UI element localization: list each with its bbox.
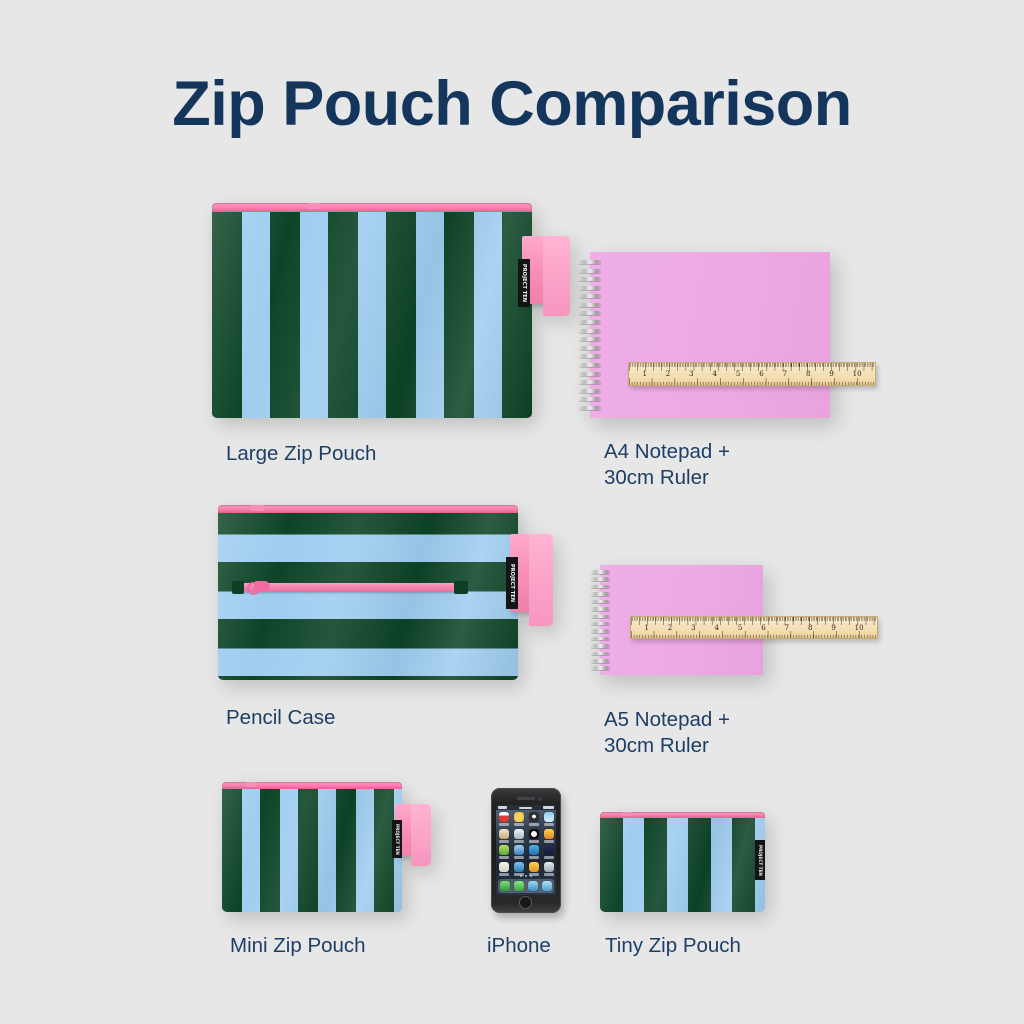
brand-tag: PROJECT TEN: [392, 820, 402, 858]
ruler-ticks-inch: [629, 378, 875, 385]
caption-pencil-case: Pencil Case: [226, 705, 335, 731]
ruler-ticks-inch: [631, 631, 877, 638]
page-dot: [530, 875, 532, 877]
app-icon-cell[interactable]: [499, 812, 509, 826]
clock-icon[interactable]: [529, 829, 539, 839]
brand-tag: PROJECT TEN: [518, 259, 530, 307]
app-icon-cell[interactable]: [514, 845, 524, 859]
ruler-number: 7: [773, 370, 796, 378]
caption-iphone: iPhone: [487, 933, 551, 959]
ruler-number: 3: [680, 370, 703, 378]
app-icon-cell[interactable]: [529, 812, 539, 826]
zipper-slider-icon[interactable]: [246, 782, 257, 787]
carrier-label-icon: [519, 807, 532, 809]
top-zipper[interactable]: [212, 203, 532, 212]
camera-icon[interactable]: [529, 812, 539, 822]
app-icon-cell[interactable]: [529, 829, 539, 843]
ruler-number: 9: [820, 370, 843, 378]
pouch-large[interactable]: PROJECT TEN: [212, 203, 532, 418]
brand-tag-label: PROJECT TEN: [521, 264, 527, 302]
messages-icon[interactable]: [514, 881, 524, 891]
maps-icon[interactable]: [514, 845, 524, 855]
caption-a5-notepad-ruler: A5 Notepad + 30cm Ruler: [604, 707, 730, 759]
app-icon-cell[interactable]: [544, 812, 554, 826]
front-zipper[interactable]: [238, 583, 456, 592]
itunes-icon[interactable]: [544, 829, 554, 839]
app-label: [529, 840, 539, 843]
appstore-icon[interactable]: [529, 845, 539, 855]
iphone[interactable]: [491, 788, 561, 913]
ruler-numbers: 1 2 3 4 5 6 7 8 9 10: [629, 370, 875, 378]
page-dot: [525, 875, 527, 877]
pouch-body: [222, 782, 402, 912]
app-label: [544, 823, 554, 826]
page-title: Zip Pouch Comparison: [0, 68, 1024, 140]
zipper-slider-icon[interactable]: [307, 203, 321, 209]
app-icon-cell[interactable]: [514, 862, 524, 876]
brand-tag-label: PROJECT TEN: [509, 564, 515, 602]
stripe-pattern-vertical: [222, 782, 402, 912]
status-bar: [496, 805, 556, 810]
page-dot: [520, 875, 522, 877]
app-label: [499, 856, 509, 859]
pouch-tiny[interactable]: PROJECT TEN: [600, 812, 765, 912]
app-icon-cell[interactable]: [544, 862, 554, 876]
pouch-mini[interactable]: PROJECT TEN: [222, 782, 402, 912]
brand-tag: PROJECT TEN: [506, 557, 518, 609]
weather-icon[interactable]: [544, 812, 554, 822]
ruler-number: 10: [843, 370, 871, 378]
ruler-number: 6: [750, 370, 773, 378]
app-icon-cell[interactable]: [514, 829, 524, 843]
settings-alt-icon[interactable]: [514, 862, 524, 872]
app-icon-cell[interactable]: [499, 862, 509, 876]
app-label: [514, 856, 524, 859]
app-icon-cell[interactable]: [499, 829, 509, 843]
a5-notepad-ruler[interactable]: 1 2 3 4 5 6 7 8 9 10: [588, 565, 878, 675]
zipper-slider-icon[interactable]: [251, 505, 264, 511]
notes-alt-icon[interactable]: [529, 862, 539, 872]
front-zipper-pull-icon[interactable]: [254, 581, 270, 592]
phone-screen[interactable]: [496, 805, 556, 895]
app-label: [529, 823, 539, 826]
brand-tag-label: PROJECT TEN: [395, 824, 400, 855]
caption-large-zip-pouch: Large Zip Pouch: [226, 441, 376, 467]
ruler-ticks-cm: [631, 617, 877, 625]
app-label: [544, 840, 554, 843]
ruler-number: 8: [797, 370, 820, 378]
brand-tag: PROJECT TEN: [755, 840, 765, 880]
app-label: [514, 823, 524, 826]
app-icon-cell[interactable]: [529, 845, 539, 859]
app-label: [529, 856, 539, 859]
podcast-icon[interactable]: [499, 862, 509, 872]
pull-tab-fold: [411, 804, 431, 866]
notes-icon[interactable]: [499, 829, 509, 839]
spiral-binding: [579, 252, 601, 418]
a4-notepad[interactable]: [590, 252, 830, 418]
app-label: [499, 840, 509, 843]
caption-a4-notepad-ruler: A4 Notepad + 30cm Ruler: [604, 439, 730, 491]
app-label: [514, 840, 524, 843]
ruler-ticks-cm: [629, 363, 875, 371]
speaker-grille-icon: [517, 797, 535, 800]
app-icon-cell[interactable]: [544, 829, 554, 843]
ruler-30cm-a4[interactable]: 1 2 3 4 5 6 7 8 9 10: [628, 362, 876, 386]
front-zipper-end-left: [232, 581, 244, 594]
mini-zip-pouch[interactable]: PROJECT TEN: [222, 782, 452, 912]
front-zipper-end-right: [454, 581, 468, 594]
mail-icon[interactable]: [528, 881, 538, 891]
bank-icon[interactable]: [544, 845, 554, 855]
caption-tiny-zip-pouch: Tiny Zip Pouch: [605, 933, 741, 959]
phone-icon[interactable]: [500, 881, 510, 891]
pouch-body: [212, 203, 532, 418]
home-button[interactable]: [519, 896, 532, 909]
dock[interactable]: [498, 879, 554, 893]
front-camera-icon: [538, 797, 542, 801]
calendar-icon[interactable]: [499, 812, 509, 822]
pouch-pencil-case[interactable]: PROJECT TEN: [218, 505, 518, 680]
ruler-number: 4: [703, 370, 726, 378]
large-zip-pouch[interactable]: PROJECT TEN: [212, 203, 532, 418]
messages-alt-icon[interactable]: [499, 845, 509, 855]
spiral-binding: [591, 565, 610, 675]
app-icon-cell[interactable]: [544, 845, 554, 859]
app-label: [499, 823, 509, 826]
pouch-body: [600, 812, 765, 912]
ruler-30cm-a5[interactable]: 1 2 3 4 5 6 7 8 9 10: [630, 616, 878, 639]
app-icon-cell[interactable]: [499, 845, 509, 859]
brand-tag-label: PROJECT TEN: [758, 845, 763, 876]
stripe-pattern-horizontal: [218, 505, 518, 680]
safari-icon[interactable]: [542, 881, 552, 891]
ruler-number: 5: [726, 370, 749, 378]
pouch-body: [218, 505, 518, 680]
pull-tab-fold: [529, 534, 553, 626]
stripe-pattern-vertical: [212, 203, 532, 418]
comparison-poster: Zip Pouch Comparison PROJECT TEN Large Z…: [0, 0, 1024, 1024]
stripe-pattern-vertical: [600, 812, 765, 912]
signal-bars-icon: [498, 806, 507, 809]
page-dots: [496, 875, 556, 877]
zipper-slider-icon[interactable]: [622, 812, 632, 816]
pencil-case[interactable]: PROJECT TEN: [218, 505, 518, 680]
ruler-number: 1: [633, 370, 656, 378]
caption-mini-zip-pouch: Mini Zip Pouch: [230, 933, 366, 959]
battery-icon: [543, 806, 554, 809]
app-icon-cell[interactable]: [514, 812, 524, 826]
reminders-icon[interactable]: [514, 829, 524, 839]
app-label: [544, 856, 554, 859]
a4-notepad-ruler[interactable]: 1 2 3 4 5 6 7 8 9 10: [572, 252, 884, 418]
tiny-zip-pouch[interactable]: PROJECT TEN: [600, 812, 775, 912]
app-grid[interactable]: [496, 812, 556, 876]
settings-icon[interactable]: [544, 862, 554, 872]
pull-tab-fold: [543, 236, 570, 316]
photos-icon[interactable]: [514, 812, 524, 822]
ruler-number: 2: [656, 370, 679, 378]
app-icon-cell[interactable]: [529, 862, 539, 876]
notepad-cover: [590, 252, 830, 418]
